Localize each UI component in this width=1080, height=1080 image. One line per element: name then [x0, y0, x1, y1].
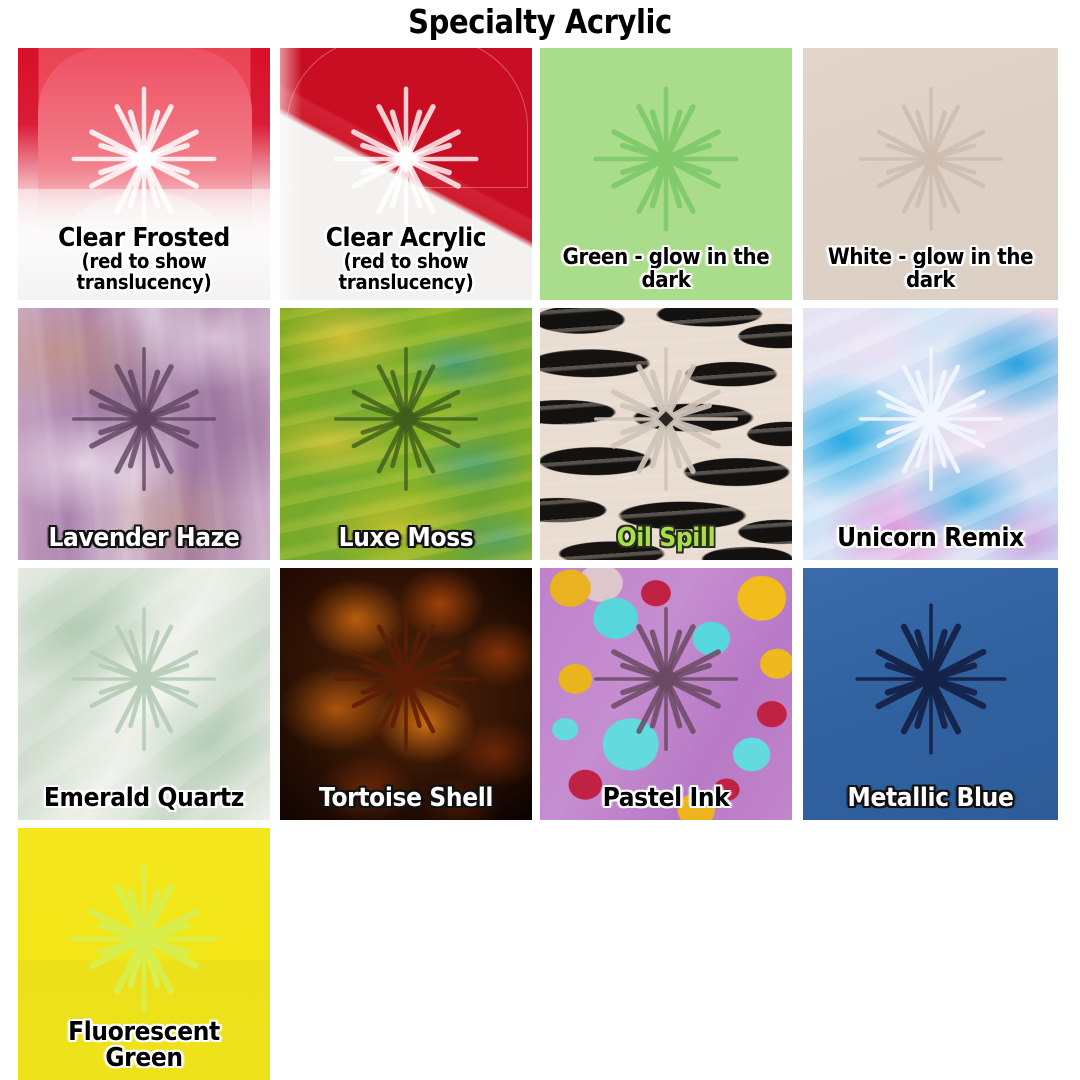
swatch-metallic-blue[interactable]: Metallic Blue	[803, 568, 1058, 820]
swatch-texture	[803, 568, 1058, 820]
swatch-texture	[18, 308, 270, 560]
swatch-pastel-ink[interactable]: Pastel Ink	[540, 568, 792, 820]
swatch-luxe-moss[interactable]: Luxe Moss	[280, 308, 532, 560]
swatch-texture	[18, 828, 270, 1080]
swatch-texture	[540, 568, 792, 820]
swatch-texture	[18, 48, 270, 300]
swatch-clear-frosted[interactable]: Clear Frosted (red to show translucency)	[18, 48, 270, 300]
page-title: Specialty Acrylic	[65, 0, 1015, 46]
swatch-grid: Clear Frosted (red to show translucency)	[0, 46, 1080, 1080]
swatch-texture	[280, 568, 532, 820]
swatch-white-glow-in-the-dark[interactable]: White - glow in the dark	[803, 48, 1058, 300]
swatch-texture	[803, 308, 1058, 560]
swatch-green-glow-in-the-dark[interactable]: Green - glow in the dark	[540, 48, 792, 300]
swatch-fluorescent-green[interactable]: Fluorescent Green	[18, 828, 270, 1080]
swatch-clear-acrylic[interactable]: Clear Acrylic (red to show translucency)	[280, 48, 532, 300]
swatch-tortoise-shell[interactable]: Tortoise Shell	[280, 568, 532, 820]
swatch-texture	[18, 568, 270, 820]
swatch-lavender-haze[interactable]: Lavender Haze	[18, 308, 270, 560]
swatch-unicorn-remix[interactable]: Unicorn Remix	[803, 308, 1058, 560]
swatch-oil-spill[interactable]: Oil Spill	[540, 308, 792, 560]
swatch-texture	[280, 308, 532, 560]
swatch-emerald-quartz[interactable]: Emerald Quartz	[18, 568, 270, 820]
swatch-texture	[280, 48, 532, 300]
swatch-texture	[540, 48, 792, 300]
swatch-texture	[540, 308, 792, 560]
swatch-texture	[803, 48, 1058, 300]
